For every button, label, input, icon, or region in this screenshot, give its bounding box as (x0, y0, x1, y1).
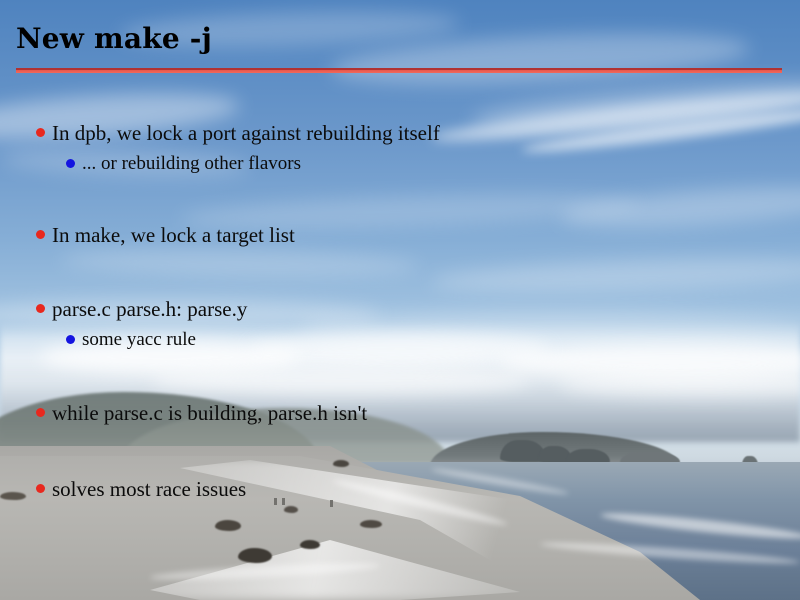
list-item-label: parse.c parse.h: parse.y (52, 294, 247, 324)
list-item: solves most race issues (0, 474, 800, 504)
list-item-label: some yacc rule (82, 326, 196, 354)
background-debris (215, 520, 241, 531)
blue-disc-bullet-icon (66, 159, 75, 168)
list-item-label: solves most race issues (52, 474, 246, 504)
red-disc-bullet-icon (36, 484, 45, 493)
background-debris (284, 506, 298, 513)
title-underline-rule (16, 68, 782, 73)
list-item-label: In make, we lock a target list (52, 220, 295, 250)
blue-disc-bullet-icon (66, 335, 75, 344)
list-item: some yacc rule (0, 326, 800, 354)
background-debris (300, 540, 320, 549)
spacer (0, 354, 800, 398)
list-item: In dpb, we lock a port against rebuildin… (0, 118, 800, 148)
slide-title: New make -j (16, 22, 212, 56)
background-debris (360, 520, 382, 528)
list-item-label: In dpb, we lock a port against rebuildin… (52, 118, 440, 148)
list-item: while parse.c is building, parse.h isn't (0, 398, 800, 428)
list-item: In make, we lock a target list (0, 220, 800, 250)
background-debris (238, 548, 272, 563)
list-item: ... or rebuilding other flavors (0, 150, 800, 178)
red-disc-bullet-icon (36, 230, 45, 239)
spacer (0, 430, 800, 474)
red-disc-bullet-icon (36, 304, 45, 313)
list-item-label: ... or rebuilding other flavors (82, 150, 301, 178)
spacer (0, 178, 800, 220)
spacer (0, 252, 800, 294)
slide-bullet-list: In dpb, we lock a port against rebuildin… (0, 118, 800, 506)
presentation-slide: New make -j In dpb, we lock a port again… (0, 0, 800, 600)
list-item-label: while parse.c is building, parse.h isn't (52, 398, 367, 428)
red-disc-bullet-icon (36, 408, 45, 417)
list-item: parse.c parse.h: parse.y (0, 294, 800, 324)
red-disc-bullet-icon (36, 128, 45, 137)
